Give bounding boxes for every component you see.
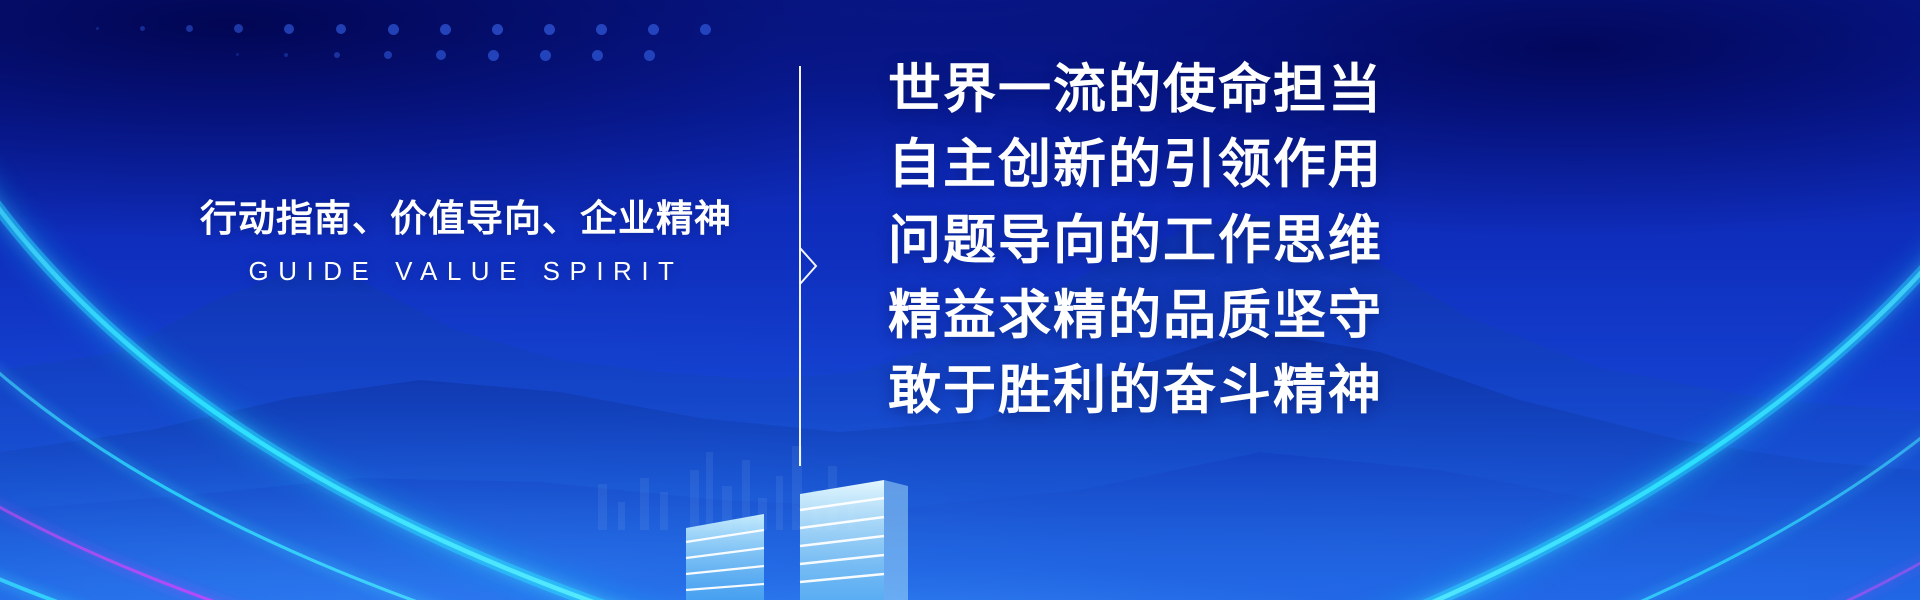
vertical-bracket-arrow-icon <box>796 66 824 466</box>
right-line-1: 世界一流的使命担当 <box>888 52 1383 127</box>
right-line-4: 精益求精的品质坚守 <box>888 278 1383 353</box>
right-line-3: 问题导向的工作思维 <box>888 203 1383 278</box>
right-line-5: 敢于胜利的奋斗精神 <box>888 353 1383 428</box>
right-text-block: 世界一流的使命担当 自主创新的引领作用 问题导向的工作思维 精益求精的品质坚守 … <box>888 52 1383 428</box>
left-subtitle-en: GUIDE VALUE SPIRIT <box>196 256 736 287</box>
hero-banner: 行动指南、价值导向、企业精神 GUIDE VALUE SPIRIT 世界一流的使… <box>0 0 1920 600</box>
halftone-dot-pattern <box>0 0 760 72</box>
left-headline-cn: 行动指南、价值导向、企业精神 <box>196 196 736 242</box>
left-text-block: 行动指南、价值导向、企业精神 GUIDE VALUE SPIRIT <box>196 196 736 287</box>
right-line-2: 自主创新的引领作用 <box>888 127 1383 202</box>
city-skyline-buildings <box>672 450 932 600</box>
